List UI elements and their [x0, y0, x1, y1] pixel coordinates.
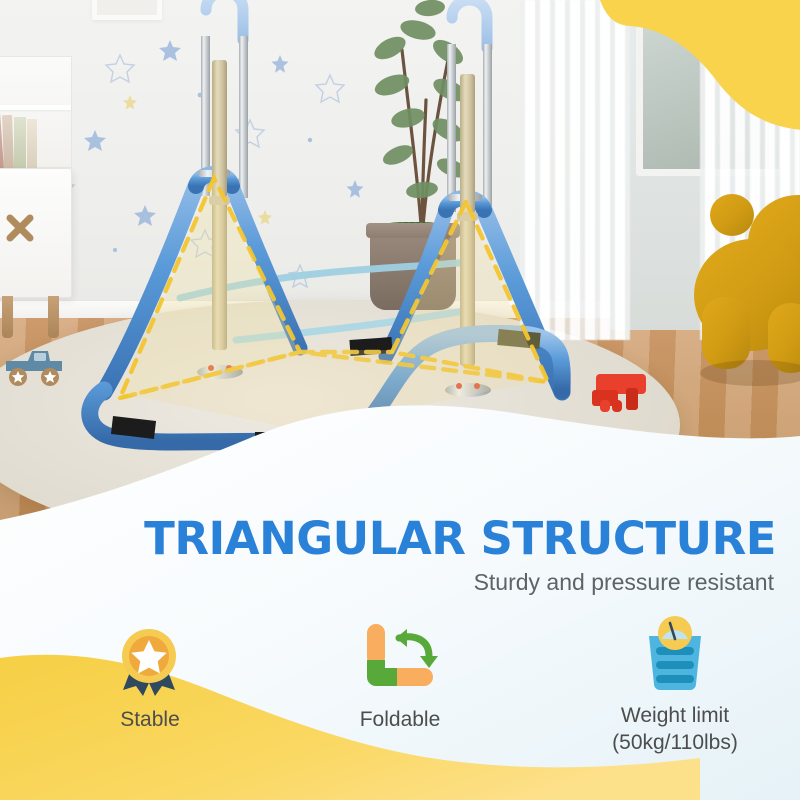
weight-scale-icon — [550, 616, 800, 694]
feature-label-foldable: Foldable — [300, 706, 500, 733]
page-title: TRIANGULAR STRUCTURE — [0, 516, 776, 561]
feature-stable: Stable — [40, 620, 260, 733]
marketing-banner: TRIANGULAR STRUCTURE Sturdy and pressure… — [0, 0, 800, 800]
corner-wave-decoration-top-right — [540, 0, 800, 130]
foldable-arrow-icon — [300, 620, 500, 698]
medal-star-icon — [40, 620, 260, 698]
feature-label-weight-line1: Weight limit — [550, 702, 800, 729]
page-subtitle: Sturdy and pressure resistant — [0, 569, 774, 597]
feature-foldable: Foldable — [300, 620, 500, 733]
feature-weight-limit: Weight limit (50kg/110lbs) — [550, 616, 800, 757]
feature-label-weight-line2: (50kg/110lbs) — [550, 729, 800, 756]
feature-label-stable: Stable — [40, 706, 260, 733]
feature-list: Stable Foldable — [0, 612, 800, 792]
